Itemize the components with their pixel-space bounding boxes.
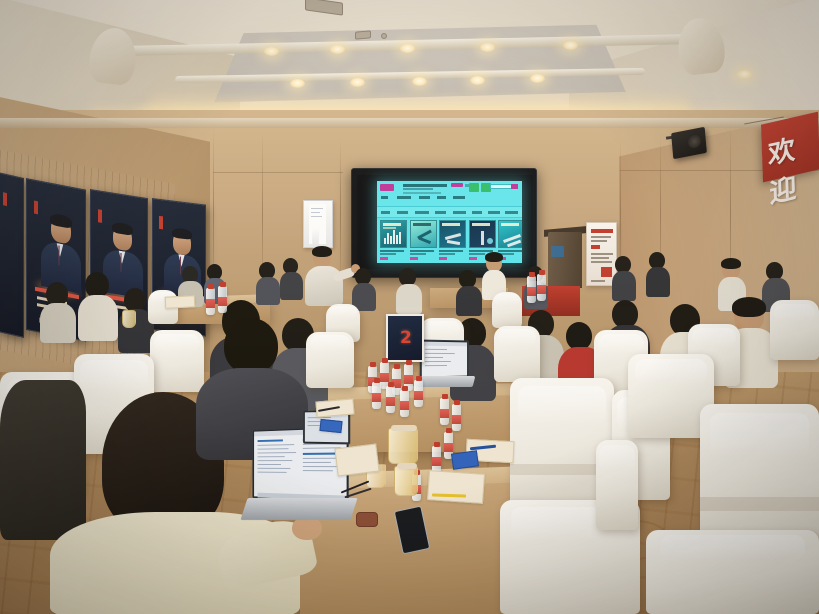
cover-title <box>501 223 519 226</box>
site-subnav-item[interactable] <box>488 211 500 214</box>
attendee-hair <box>485 252 503 262</box>
doc-text-line <box>425 349 447 350</box>
cover-illustration <box>487 238 493 244</box>
doc-text-line <box>258 444 295 446</box>
product-card-meta <box>410 250 437 260</box>
rollup-line <box>591 236 611 238</box>
product-sub-line <box>469 253 485 255</box>
site-header <box>377 181 522 207</box>
tea-jar <box>388 428 418 464</box>
notepad <box>427 470 485 504</box>
doc-text-line <box>303 466 339 467</box>
downlight <box>412 77 427 86</box>
poster-accent-mark <box>159 216 163 229</box>
downlight <box>400 44 415 53</box>
attendee-hair <box>721 258 741 269</box>
site-subnav-item[interactable] <box>453 211 466 214</box>
welcome-banner-text: 欢迎 <box>767 122 819 211</box>
tea-jar <box>122 310 136 328</box>
table-number-text: 2 <box>400 328 412 348</box>
product-card-cover <box>410 220 437 248</box>
bottle-label <box>218 297 227 306</box>
site-header-tag <box>451 183 463 187</box>
downlight <box>290 79 305 88</box>
poster-accent-mark <box>98 209 102 223</box>
product-card[interactable] <box>410 220 437 260</box>
doc-text-line <box>425 361 451 362</box>
product-title-line <box>469 250 493 252</box>
laptop-keyboard-center[interactable] <box>415 376 476 387</box>
attendee-body <box>78 295 118 341</box>
site-nav-item-4[interactable] <box>453 196 465 199</box>
podium-monitor <box>551 246 564 257</box>
downlight <box>530 74 545 83</box>
downlight <box>480 43 495 52</box>
presentation-display[interactable] <box>351 168 537 278</box>
rollup-number <box>601 267 612 277</box>
blue-folder <box>319 419 342 433</box>
water-bottle <box>414 380 423 407</box>
downlight <box>563 41 578 50</box>
banquet-chair <box>492 292 522 328</box>
wall-panel-seam-h <box>213 172 343 173</box>
site-search-button[interactable] <box>511 184 518 189</box>
bottle-label <box>380 373 389 382</box>
cover-illustration <box>481 231 484 245</box>
product-card[interactable] <box>380 220 407 260</box>
ceiling-speaker-dome <box>381 33 387 39</box>
banquet-chair <box>646 530 819 614</box>
product-title-line <box>439 250 463 252</box>
attendee-head <box>612 300 638 328</box>
downlight <box>350 78 365 87</box>
product-card-meta <box>439 250 466 260</box>
bottle-label <box>452 415 461 424</box>
attendee-body <box>0 380 86 540</box>
bottle-label <box>386 397 395 406</box>
site-subnav-item[interactable] <box>397 211 408 214</box>
cover-illustration <box>418 237 430 244</box>
attendee-body <box>40 303 76 343</box>
site-logo-icon[interactable] <box>380 184 394 191</box>
bottle-label <box>440 409 449 418</box>
site-subnav-item[interactable] <box>381 211 390 214</box>
rollup-headline <box>591 229 613 233</box>
rollup-block <box>591 245 600 249</box>
bottle-label <box>527 287 536 296</box>
banquet-chair <box>770 300 819 360</box>
product-card-meta <box>380 250 407 260</box>
conference-room-photo: 欢迎 <box>0 0 819 614</box>
product-price-tag <box>380 257 388 260</box>
attendee-body <box>456 286 482 316</box>
bottle-label <box>537 285 546 294</box>
attendee-body <box>612 271 636 301</box>
tea-jar-lid <box>397 463 417 469</box>
cover-subtitle <box>383 227 396 229</box>
water-bottle <box>206 288 215 315</box>
bottle-label <box>206 299 215 308</box>
downlight <box>470 76 485 85</box>
doc-text-line <box>303 462 331 463</box>
doc-text-line <box>258 448 289 450</box>
product-card[interactable] <box>439 220 466 260</box>
banquet-chair <box>494 326 540 382</box>
site-header-subtitle <box>403 188 433 190</box>
product-title-line <box>410 250 434 252</box>
attendee-head <box>566 322 592 350</box>
doc-text-line <box>258 464 281 465</box>
cover-title <box>442 223 460 226</box>
attendee-hair <box>732 297 766 317</box>
rollup-line <box>591 280 605 282</box>
water-bottle <box>527 276 536 303</box>
bottle-label <box>404 375 413 384</box>
doc-heading-line <box>258 439 283 441</box>
cover-title <box>383 223 401 226</box>
site-subnav-item[interactable] <box>435 211 446 214</box>
water-bottle <box>440 398 449 425</box>
podium <box>548 232 582 288</box>
attendee-body <box>646 267 670 297</box>
water-bottle <box>400 390 409 417</box>
speaker-poster-0 <box>0 172 24 338</box>
attendee-head <box>224 318 278 374</box>
rollup-line <box>591 253 613 255</box>
laptop-keyboard-foreground[interactable] <box>240 498 357 520</box>
welcome-banner: 欢迎 <box>761 112 819 183</box>
laptop-document-page <box>422 342 467 377</box>
flipchart-written-line <box>311 216 322 217</box>
poster-accent-mark <box>34 201 38 215</box>
wall-panel-seam <box>340 140 341 290</box>
site-nav-item-1[interactable] <box>397 196 411 199</box>
downlight <box>737 70 752 79</box>
downlight <box>264 47 279 56</box>
presenter-hair <box>312 246 332 257</box>
doc-text-line <box>425 357 443 358</box>
doc-text-line <box>258 468 291 469</box>
product-price-tag <box>439 257 447 260</box>
doc-text-line <box>303 470 333 471</box>
site-header-meta <box>403 192 441 194</box>
water-bottle <box>537 274 546 301</box>
doc-text-line <box>258 456 285 457</box>
cover-bar-graphic <box>384 230 401 244</box>
bottle-label <box>400 401 409 410</box>
wall-top-trim <box>0 118 819 128</box>
rollup-line <box>591 257 609 259</box>
rollup-line <box>591 261 612 263</box>
cover-title <box>472 223 490 226</box>
site-subnav-item[interactable] <box>415 211 429 214</box>
ceiling-air-vent <box>355 30 371 39</box>
banquet-chair <box>306 332 354 388</box>
water-bottle <box>452 404 461 431</box>
product-price-tag <box>410 257 418 260</box>
doc-text-line <box>258 460 293 461</box>
product-title-line <box>498 250 522 252</box>
downlight <box>330 45 345 54</box>
banquet-chair <box>150 330 204 392</box>
product-title-line <box>380 250 404 252</box>
attendee-body <box>256 277 280 305</box>
banquet-chair <box>596 440 638 530</box>
site-subnav <box>377 207 522 218</box>
bottle-label <box>414 391 423 400</box>
site-badge-1[interactable] <box>469 183 479 192</box>
attendee-body <box>280 272 303 300</box>
cover-illustration <box>447 240 460 245</box>
bottle-label <box>372 393 381 402</box>
site-subnav-item[interactable] <box>472 211 482 214</box>
product-card-cover <box>469 220 496 248</box>
doc-text-line <box>258 472 287 473</box>
table-number-sign: 2 <box>386 314 424 362</box>
site-subnav-item[interactable] <box>505 211 518 214</box>
laptop-app-toolbar <box>422 342 467 347</box>
doc-text-line <box>258 452 296 453</box>
site-nav-item-0[interactable] <box>381 196 388 199</box>
cover-title <box>413 223 431 226</box>
tea-jar-lid <box>391 425 417 431</box>
rollup-line <box>591 240 607 242</box>
site-nav-item-2[interactable] <box>419 196 430 199</box>
notepad <box>165 295 196 309</box>
doc-text-line <box>425 365 447 366</box>
doc-heading-line <box>303 453 337 455</box>
product-card-cover <box>439 220 466 248</box>
display-panel <box>357 175 533 269</box>
doc-text-line <box>425 353 455 354</box>
chair-sash <box>700 497 819 511</box>
product-sub-line <box>439 253 455 255</box>
water-bottle <box>218 286 227 313</box>
bottle-label <box>444 443 453 452</box>
laptop-screen-center[interactable] <box>420 339 469 378</box>
notepad <box>334 444 379 477</box>
product-sub-line <box>410 253 426 255</box>
water-bottle <box>432 446 441 473</box>
bottle-label <box>432 457 441 466</box>
tea-jar <box>394 466 418 496</box>
flipchart-written-line <box>311 212 320 213</box>
smartphone-laptop-side[interactable] <box>356 512 378 527</box>
product-card-cover <box>498 220 522 248</box>
flipchart-written-line <box>311 208 323 209</box>
site-header-title <box>403 184 447 187</box>
product-sub-line <box>380 253 396 255</box>
water-bottle <box>386 386 395 413</box>
poster-accent-mark <box>3 192 7 206</box>
attendee-body <box>396 284 422 314</box>
product-card-cover <box>380 220 407 248</box>
site-nav-item-3[interactable] <box>437 196 446 199</box>
product-price-tag <box>469 257 477 260</box>
water-bottle <box>372 382 381 409</box>
website-on-screen <box>377 181 522 263</box>
